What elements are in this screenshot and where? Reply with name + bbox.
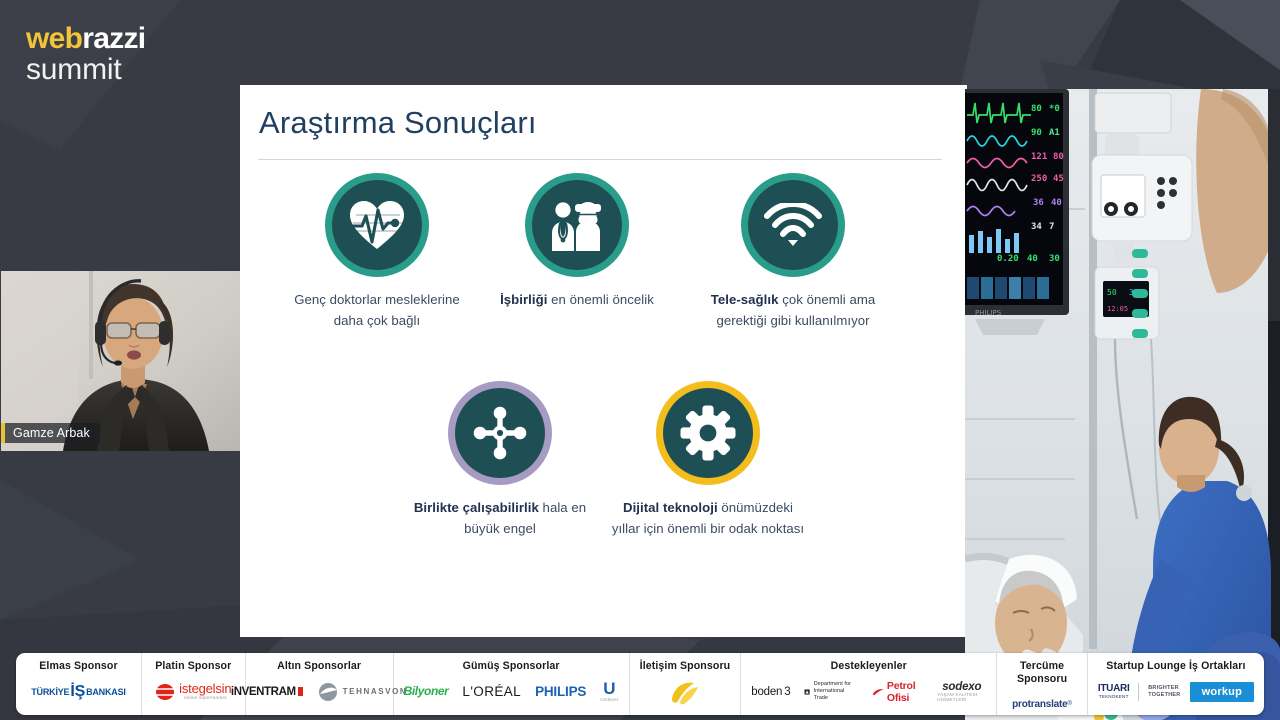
sponsor-group-destekleyenler: Destekleyenler boden 3 Department for In… xyxy=(741,653,997,715)
badge-network-nodes xyxy=(448,381,552,485)
speaker-video-tile[interactable]: Gamze Arbak xyxy=(1,271,242,451)
sponsor-logo-sodexo[interactable]: sodexo YAŞAM KALİTESİ HİZMETLERİ xyxy=(937,679,986,705)
svg-text:40: 40 xyxy=(1051,198,1062,208)
speaker-name-label: Gamze Arbak xyxy=(1,423,100,443)
network-nodes-icon xyxy=(472,405,528,461)
sponsor-group-gumus: Gümüş Sponsorlar Bilyoner L'ORÉAL PHILIP… xyxy=(394,653,630,715)
title-underline xyxy=(258,159,942,160)
svg-text:34: 34 xyxy=(1031,222,1042,232)
sponsor-logo-unilever[interactable]: U Unilever xyxy=(600,679,618,705)
svg-text:80: 80 xyxy=(1031,104,1042,114)
badge-heart-pulse xyxy=(325,173,429,277)
slide-item-3-bold: Tele-sağlık xyxy=(711,292,779,307)
sponsor-group-title: Elmas Sponsor xyxy=(39,660,117,673)
sponsor-group-title: İletişim Sponsoru xyxy=(640,660,731,673)
icu-scene-illustration: 80 *0 90 A1 121 80 250 45 36 40 34 7 0.2… xyxy=(965,89,1280,720)
slide-item-5-bold: Dijital teknoloji xyxy=(623,500,718,515)
badge-wifi xyxy=(741,173,845,277)
loreal-wordmark: L'ORÉAL xyxy=(462,684,521,699)
ituari-wordmark: ITUARI xyxy=(1098,684,1130,695)
svg-text:90: 90 xyxy=(1031,128,1042,138)
presentation-slide: Araştırma Sonuçları xyxy=(240,85,967,637)
svg-text:50: 50 xyxy=(1107,288,1117,297)
speaker-name-accent-bar xyxy=(1,423,5,443)
inventram-accent xyxy=(298,687,303,696)
slide-item-1: Genç doktorlar mesleklerine daha çok bağ… xyxy=(289,173,465,332)
badge-gear xyxy=(656,381,760,485)
sponsor-logo-inventram[interactable]: iNVENTRAM xyxy=(231,679,303,705)
sponsor-logo-turkcell[interactable] xyxy=(668,679,702,705)
slide-item-3-caption: Tele-sağlık çok önemli ama gerektiği gib… xyxy=(695,289,891,332)
svg-text:45: 45 xyxy=(1053,174,1064,184)
logo-razzi-text: razzi xyxy=(82,22,145,55)
sponsor-logo-protranslate[interactable]: protranslate ® xyxy=(1012,691,1072,715)
gear-icon xyxy=(680,405,736,461)
sponsor-logo-bilyoner[interactable]: Bilyoner xyxy=(404,679,449,705)
istegelsin-wordmark: istegelsin xyxy=(179,682,231,696)
svg-text:A1: A1 xyxy=(1049,128,1060,138)
boden-three-mark: 3 xyxy=(784,686,790,698)
isbank-monogram: İŞ xyxy=(69,683,86,701)
heart-pulse-icon xyxy=(348,199,406,251)
boden-wordmark: boden xyxy=(751,686,782,698)
doctors-pair-icon xyxy=(549,199,605,251)
isbank-right-text: BANKASI xyxy=(86,687,126,697)
slide-item-2-caption: İşbirliği en önemli öncelik xyxy=(489,289,665,310)
tehnasvon-mark-icon xyxy=(317,682,339,702)
philips-wordmark: PHILIPS xyxy=(535,684,586,699)
protranslate-registered-icon: ® xyxy=(1068,701,1072,707)
svg-text:121: 121 xyxy=(1031,152,1047,162)
slide-item-2-text: en önemli öncelik xyxy=(547,292,653,307)
slide-item-4: Birlikte çalışabilirlik hala en büyük en… xyxy=(400,381,600,540)
speaker-name-text: Gamze Arbak xyxy=(13,426,90,440)
badge-doctors-pair xyxy=(525,173,629,277)
shared-screen[interactable]: Araştırma Sonuçları xyxy=(240,85,1040,639)
sponsor-logo-philips[interactable]: PHILIPS xyxy=(535,679,586,705)
unilever-wordmark: Unilever xyxy=(600,698,618,703)
isbank-left-text: TÜRKİYE xyxy=(31,687,69,697)
svg-text:*0: *0 xyxy=(1049,104,1060,114)
sponsor-group-title: Startup Lounge İş Ortakları xyxy=(1106,660,1245,673)
presentation-stage: webrazzi summit xyxy=(0,0,1280,720)
sponsor-logo-loreal[interactable]: L'ORÉAL xyxy=(462,679,521,705)
slide-item-5-caption: Dijital teknoloji önümüzdeki yıllar için… xyxy=(608,497,808,540)
svg-text:40: 40 xyxy=(1027,254,1038,264)
dit-wordmark: Department for International Trade xyxy=(814,681,858,702)
slide-item-1-caption: Genç doktorlar mesleklerine daha çok bağ… xyxy=(289,289,465,332)
slide-item-5: Dijital teknoloji önümüzdeki yıllar için… xyxy=(608,381,808,540)
sponsor-logo-istegelsin[interactable]: istegelsin online süpermarket xyxy=(155,679,231,705)
sponsor-logo-boden3[interactable]: boden 3 xyxy=(751,679,790,705)
slide-title: Araştırma Sonuçları xyxy=(259,105,537,141)
sponsor-group-elmas: Elmas Sponsor TÜRKİYE İŞ BANKASI xyxy=(16,653,142,715)
teknokent-wordmark: TEKNOKENT xyxy=(1099,695,1129,700)
petrol-ofisi-mark-icon xyxy=(872,686,884,698)
slide-item-4-bold: Birlikte çalışabilirlik xyxy=(414,500,539,515)
svg-text:7: 7 xyxy=(1049,222,1054,232)
sodexo-tagline: YAŞAM KALİTESİ HİZMETLERİ xyxy=(937,693,986,703)
sponsor-logo-brighter-together[interactable]: BRIGHTER TOGETHER xyxy=(1148,679,1180,705)
svg-text:30: 30 xyxy=(1049,254,1060,264)
svg-text:36: 36 xyxy=(1033,198,1044,208)
sponsor-logo-petrol-ofisi[interactable]: Petrol Ofisi xyxy=(872,679,924,705)
sponsor-logo-workup[interactable]: workup xyxy=(1190,679,1254,705)
slide-item-1-text: Genç doktorlar mesleklerine daha çok bağ… xyxy=(294,292,460,328)
sponsor-group-title: Altın Sponsorlar xyxy=(277,660,361,673)
sponsor-group-title: Destekleyenler xyxy=(831,660,907,673)
logo-web-text: web xyxy=(26,22,82,55)
slide-item-3: Tele-sağlık çok önemli ama gerektiği gib… xyxy=(695,173,891,332)
sponsor-logo-divider xyxy=(1138,683,1139,701)
svg-text:250: 250 xyxy=(1031,174,1047,184)
sponsor-group-altin: Altın Sponsorlar iNVENTRAM TEHNASVON xyxy=(246,653,394,715)
brighter-together-wordmark: BRIGHTER TOGETHER xyxy=(1148,685,1180,699)
sponsor-group-tercume: Tercüme Sponsoru protranslate ® xyxy=(997,653,1088,715)
sponsor-bar: Elmas Sponsor TÜRKİYE İŞ BANKASI Platin … xyxy=(16,653,1264,715)
sponsor-group-startup-lounge: Startup Lounge İş Ortakları ITUARI TEKNO… xyxy=(1088,653,1264,715)
svg-text:0.20: 0.20 xyxy=(997,254,1019,264)
logo-summit-text: summit xyxy=(26,55,145,86)
turkcell-swirl-icon xyxy=(668,679,702,705)
wifi-icon xyxy=(764,203,822,247)
slide-item-2: İşbirliği en önemli öncelik xyxy=(489,173,665,310)
istegelsin-tagline: online süpermarket xyxy=(184,696,227,701)
unilever-monogram: U xyxy=(603,680,615,698)
workup-wordmark: workup xyxy=(1190,682,1254,702)
slide-item-4-caption: Birlikte çalışabilirlik hala en büyük en… xyxy=(400,497,600,540)
sponsor-group-title: Tercüme Sponsoru xyxy=(1007,660,1077,685)
istegelsin-mark-icon xyxy=(155,682,175,702)
webrazzi-summit-logo: webrazzi summit xyxy=(26,24,145,85)
svg-text:12:05: 12:05 xyxy=(1107,305,1128,313)
sponsor-logo-turkiye-is-bankasi[interactable]: TÜRKİYE İŞ BANKASI xyxy=(31,679,125,705)
royal-crest-icon xyxy=(804,686,810,698)
sponsor-logo-ituari-teknokent[interactable]: ITUARI TEKNOKENT xyxy=(1098,679,1130,705)
petrol-ofisi-wordmark: Petrol Ofisi xyxy=(887,680,923,704)
inventram-wordmark: iNVENTRAM xyxy=(231,686,296,698)
svg-text:PHILIPS: PHILIPS xyxy=(975,309,1002,317)
protranslate-wordmark: protranslate xyxy=(1012,699,1067,710)
sponsor-logo-department-for-international-trade[interactable]: Department for International Trade xyxy=(804,679,857,705)
bilyoner-wordmark: Bilyoner xyxy=(404,685,449,698)
hospital-icu-photo: 80 *0 90 A1 121 80 250 45 36 40 34 7 0.2… xyxy=(965,89,1280,720)
sponsor-group-title: Platin Sponsor xyxy=(155,660,231,673)
slide-item-2-bold: İşbirliği xyxy=(500,292,547,307)
sponsor-group-iletisim: İletişim Sponsoru xyxy=(630,653,742,715)
svg-text:80: 80 xyxy=(1053,152,1064,162)
sponsor-group-title: Gümüş Sponsorlar xyxy=(463,660,560,673)
